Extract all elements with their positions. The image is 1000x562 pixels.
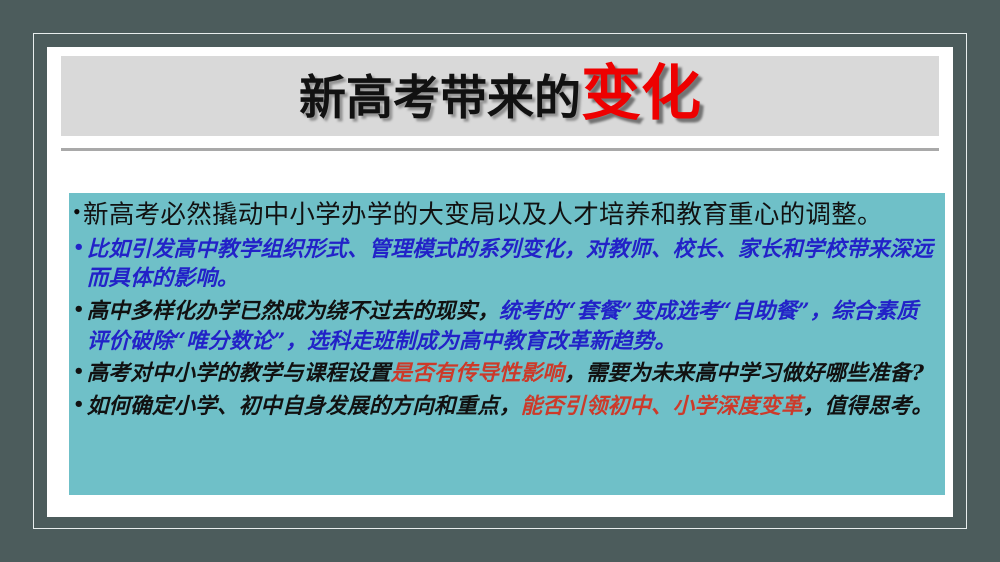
bullet-item-1: • 新高考必然撬动中小学办学的大变局以及人才培养和教育重心的调整。 <box>73 199 937 232</box>
bullet-5-segment-2: 能否引领初中、小学深度变革 <box>521 394 803 419</box>
bullet-marker-icon: • <box>73 297 87 319</box>
bullet-item-5: • 如何确定小学、初中自身发展的方向和重点，能否引领初中、小学深度变革，值得思考… <box>73 392 937 422</box>
bullet-marker-icon: • <box>73 199 83 223</box>
bullet-5-segment-3: ，值得思考。 <box>803 394 933 419</box>
page-title: 新高考带来的变化 <box>299 64 701 124</box>
bullet-3-segment-1: 高中多样化办学已然成为绕不过去的现实， <box>87 299 499 324</box>
bullet-3-text: 高中多样化办学已然成为绕不过去的现实，统考的“套餐”变成选考“自助餐”，综合素质… <box>87 297 937 356</box>
bullet-item-2: • 比如引发高中教学组织形式、管理模式的系列变化，对教师、校长、家长和学校带来深… <box>73 235 937 294</box>
bullet-4-segment-1: 高考对中小学的教学与课程设置 <box>87 361 391 386</box>
page-title-red-part: 变化 <box>581 59 701 129</box>
bullet-item-3: • 高中多样化办学已然成为绕不过去的现实，统考的“套餐”变成选考“自助餐”，综合… <box>73 297 937 356</box>
bullet-marker-icon: • <box>73 392 87 414</box>
bullet-5-segment-1: 如何确定小学、初中自身发展的方向和重点， <box>87 394 521 419</box>
content-box: • 新高考必然撬动中小学办学的大变局以及人才培养和教育重心的调整。 • 比如引发… <box>69 193 945 495</box>
bullet-4-text: 高考对中小学的教学与课程设置是否有传导性影响，需要为未来高中学习做好哪些准备? <box>87 359 937 389</box>
slide-page: 新高考带来的变化 • 新高考必然撬动中小学办学的大变局以及人才培养和教育重心的调… <box>47 47 953 517</box>
slide-title-band: 新高考带来的变化 <box>61 56 939 136</box>
bullet-2-text: 比如引发高中教学组织形式、管理模式的系列变化，对教师、校长、家长和学校带来深远而… <box>87 235 937 294</box>
bullet-marker-icon: • <box>73 235 87 257</box>
page-title-black-part: 新高考带来的 <box>299 71 581 126</box>
bullet-item-4: • 高考对中小学的教学与课程设置是否有传导性影响，需要为未来高中学习做好哪些准备… <box>73 359 937 389</box>
title-divider <box>61 148 939 151</box>
bullet-4-segment-3: ，需要为未来高中学习做好哪些准备? <box>564 361 924 386</box>
bullet-2-segment-1: 比如引发高中教学组织形式、管理模式的系列变化，对教师、校长、家长和学校带来深远而… <box>87 237 933 292</box>
bullet-5-text: 如何确定小学、初中自身发展的方向和重点，能否引领初中、小学深度变革，值得思考。 <box>87 392 937 422</box>
bullet-4-segment-2: 是否有传导性影响 <box>391 361 565 386</box>
bullet-1-segment-1: 新高考必然撬动中小学办学的大变局以及人才培养和教育重心的调整。 <box>83 200 883 229</box>
slide-root: 新高考带来的变化 • 新高考必然撬动中小学办学的大变局以及人才培养和教育重心的调… <box>0 0 1000 562</box>
bullet-1-text: 新高考必然撬动中小学办学的大变局以及人才培养和教育重心的调整。 <box>83 199 937 232</box>
bullet-marker-icon: • <box>73 359 87 381</box>
